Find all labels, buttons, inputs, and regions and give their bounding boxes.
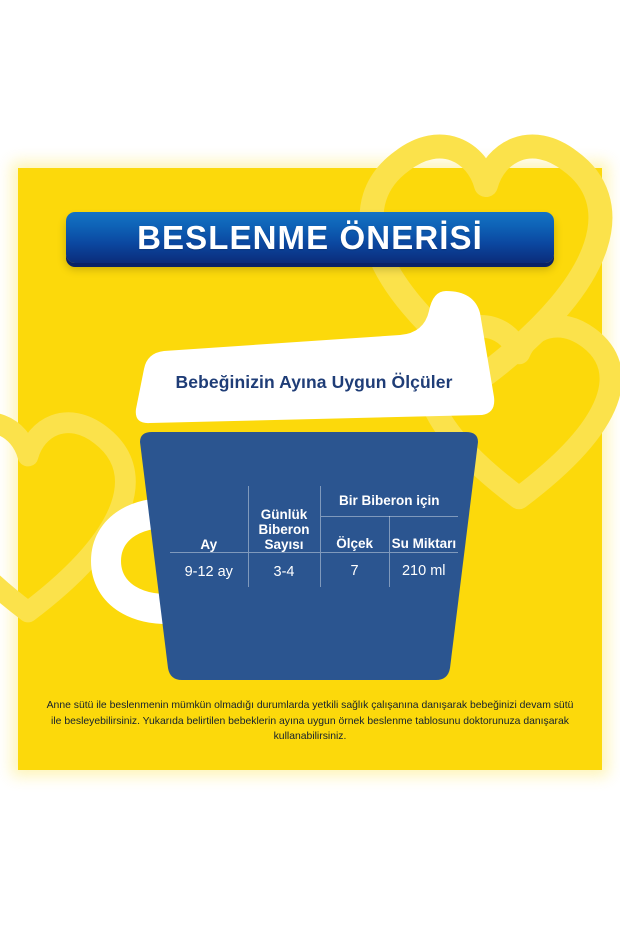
header-bir-biberon-icin-group: Bir Biberon için Ölçek Su Miktarı — [320, 486, 458, 553]
header-gunluk-biberon-sayisi: Günlük Biberon Sayısı — [248, 486, 320, 553]
lid-label: Bebeğinizin Ayına Uygun Ölçüler — [132, 372, 496, 393]
header-su-miktari: Su Miktarı — [389, 516, 458, 552]
feeding-table-grid: Ay Günlük Biberon Sayısı Bir Biberon içi… — [170, 486, 458, 587]
header-bir-biberon-icin: Bir Biberon için — [321, 486, 459, 516]
cell-ay: 9-12 ay — [170, 553, 248, 587]
feeding-table: Ay Günlük Biberon Sayısı Bir Biberon içi… — [170, 486, 458, 606]
promo-graphic: BESLENME ÖNERİSİ Bebeğinizin Ayına Uygun… — [0, 0, 620, 930]
header-gunluk-line1: Günlük — [249, 507, 320, 522]
header-olcek: Ölçek — [321, 516, 390, 552]
table-row: 9-12 ay 3-4 7 210 ml — [170, 553, 458, 587]
yellow-panel: BESLENME ÖNERİSİ Bebeğinizin Ayına Uygun… — [18, 168, 602, 770]
title-banner: BESLENME ÖNERİSİ — [66, 212, 554, 263]
cell-olcek: 7 — [320, 553, 389, 587]
header-gunluk-line3: Sayısı — [249, 537, 320, 552]
banner-title: BESLENME ÖNERİSİ — [137, 219, 483, 257]
cell-su-miktari: 210 ml — [389, 553, 458, 587]
mug-lid: Bebeğinizin Ayına Uygun Ölçüler — [132, 291, 496, 426]
header-ay: Ay — [170, 486, 248, 553]
cell-gunluk-biberon-sayisi: 3-4 — [248, 553, 320, 587]
header-gunluk-line2: Biberon — [249, 522, 320, 537]
disclaimer-text: Anne sütü ile beslenmenin mümkün olmadığ… — [44, 698, 576, 745]
table-header-row: Ay Günlük Biberon Sayısı Bir Biberon içi… — [170, 486, 458, 553]
